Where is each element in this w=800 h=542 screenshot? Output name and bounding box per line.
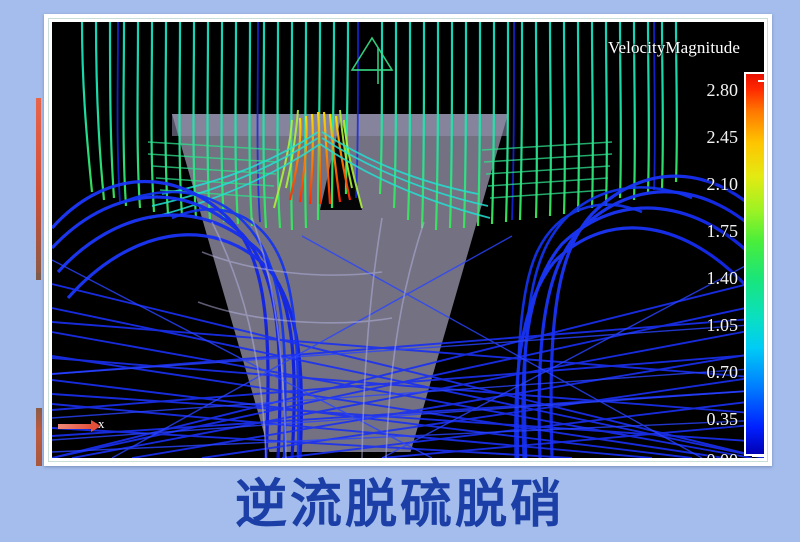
scalar-bar-range-max-tick (758, 80, 764, 82)
background-window-edge-left-lower (36, 408, 42, 466)
x-axis-arrow-icon (58, 424, 92, 429)
scalar-bar-tick-label: 0.70 (668, 362, 738, 383)
scalar-bar-tick-label: 0.35 (668, 409, 738, 430)
x-axis-label: x (98, 416, 105, 432)
scalar-bar-tick-label: 2.45 (668, 127, 738, 148)
scalar-bar-tick-label: 1.75 (668, 221, 738, 242)
scalar-bar-tick-label: 1.05 (668, 315, 738, 336)
background-window-edge-left-upper (36, 273, 41, 280)
scalar-bar-gradient (744, 72, 764, 456)
scalar-bar-tick-label: 1.40 (668, 268, 738, 289)
orientation-axes-widget[interactable]: x (58, 410, 118, 444)
scalar-bar-tick-label: 2.80 (668, 80, 738, 101)
scalar-bar-range-min-tick (752, 454, 764, 457)
visualization-frame: VelocityMagnitude 2.80 2.45 2.10 1.75 1.… (44, 14, 772, 466)
viewport-top-band (52, 22, 764, 26)
background-window-edge-left (36, 98, 41, 273)
scalar-bar-tick-label: 0.00 (668, 450, 738, 458)
scalar-bar-title: VelocityMagnitude (522, 38, 740, 58)
figure-caption: 逆流脱硫脱硝 (0, 474, 800, 536)
scalar-bar: VelocityMagnitude 2.80 2.45 2.10 1.75 1.… (522, 30, 764, 458)
scalar-bar-tick-label: 2.10 (668, 174, 738, 195)
render-viewport[interactable]: VelocityMagnitude 2.80 2.45 2.10 1.75 1.… (52, 22, 764, 458)
screenshot-root: VelocityMagnitude 2.80 2.45 2.10 1.75 1.… (0, 0, 800, 542)
